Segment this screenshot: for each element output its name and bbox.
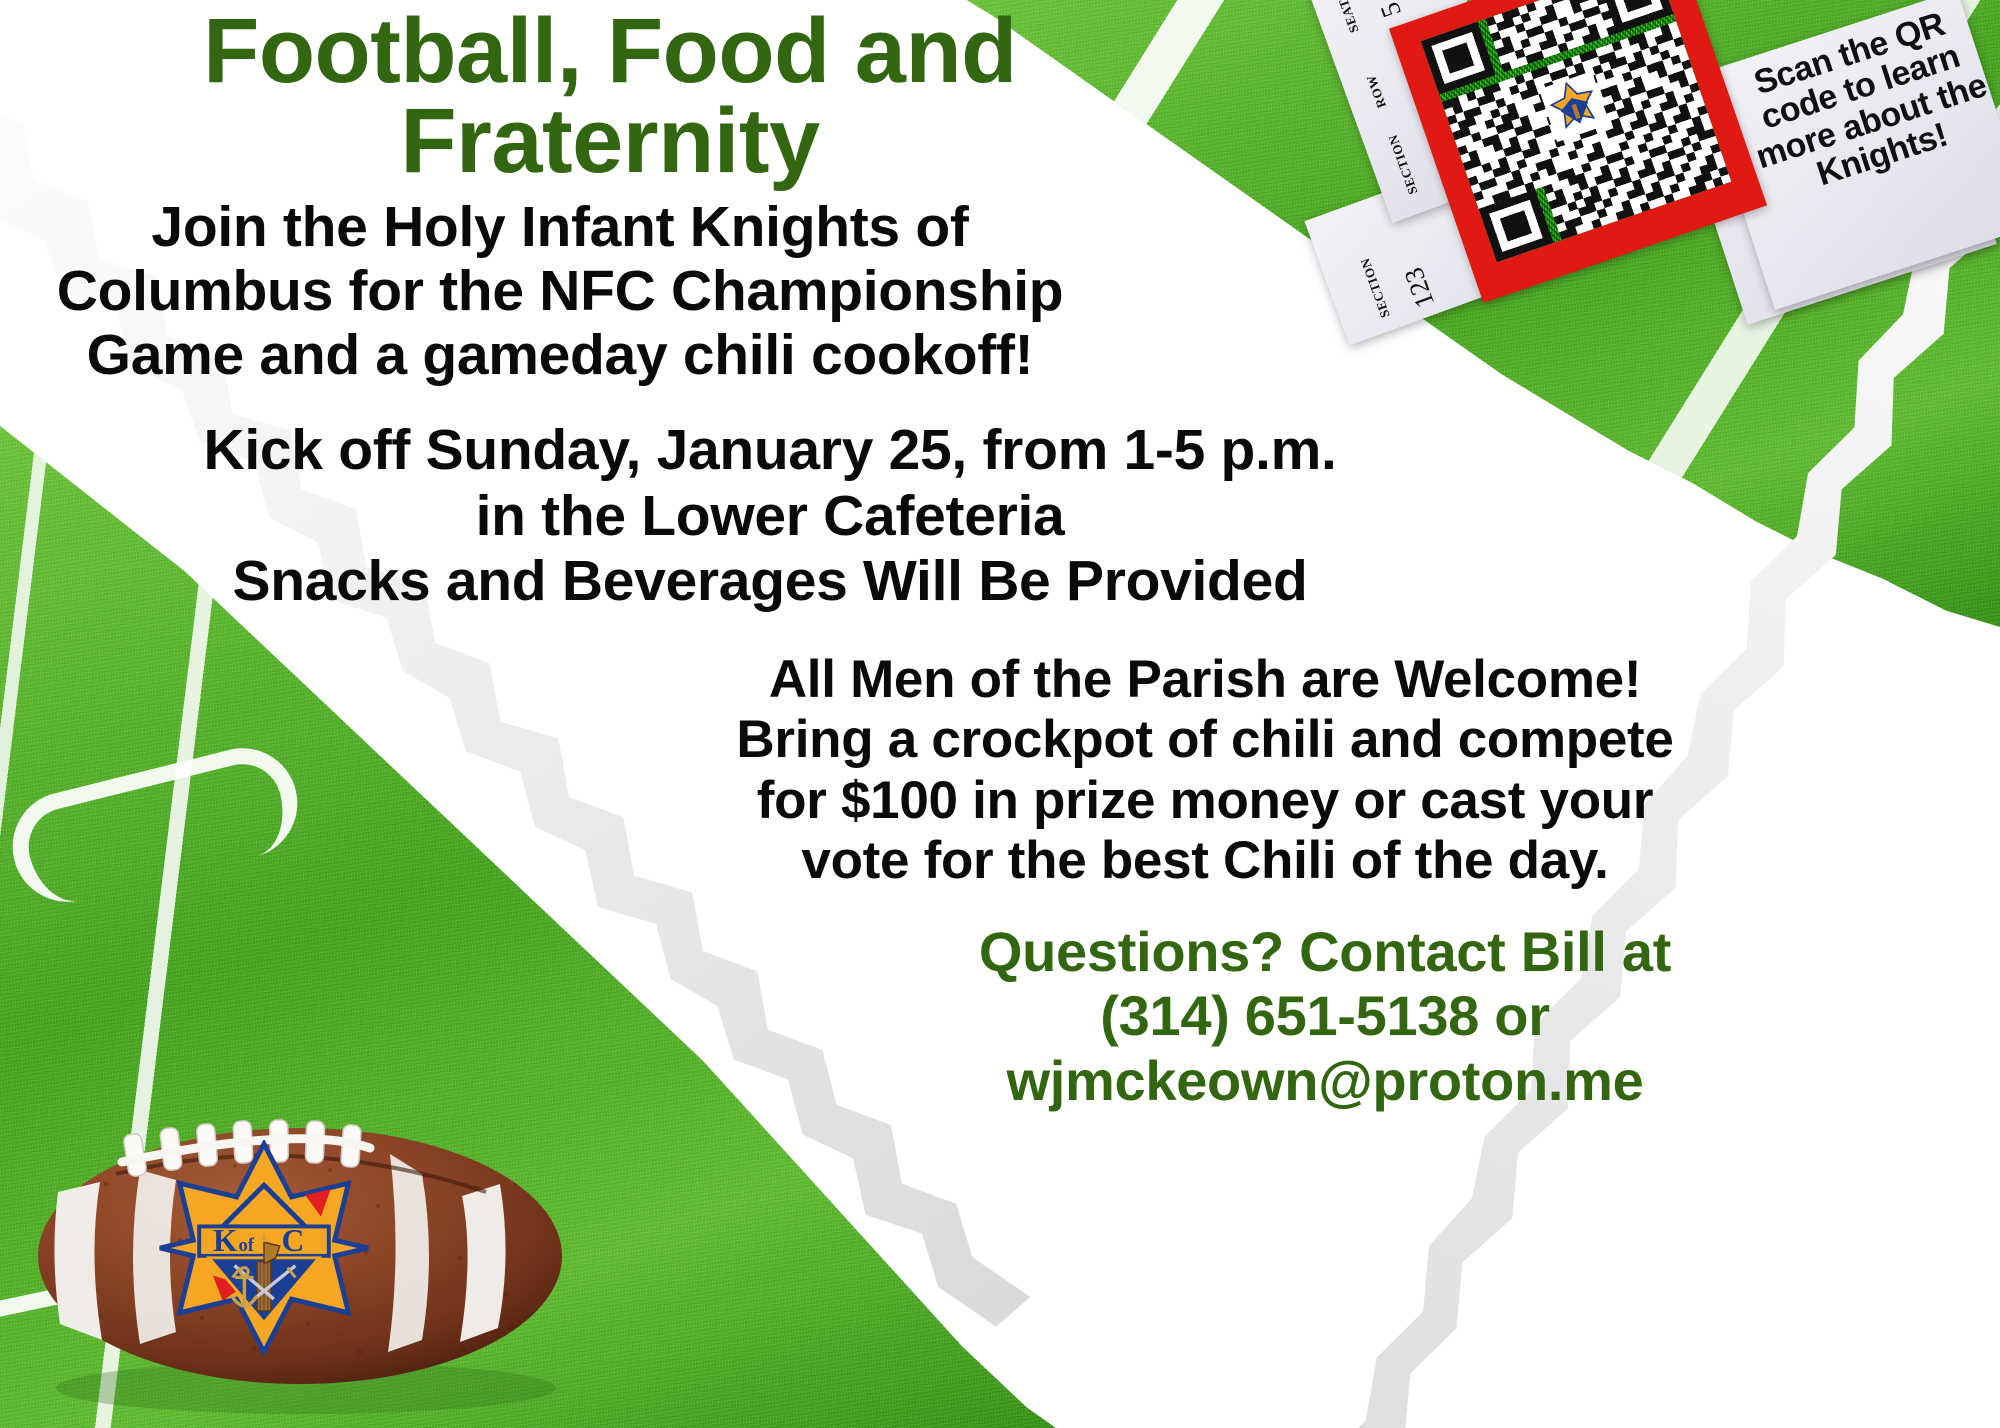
emblem-letter-of: of	[238, 1235, 254, 1256]
contact-paragraph: Questions? Contact Bill at (314) 651-513…	[660, 920, 1990, 1113]
contact-line-1: Questions? Contact Bill at	[660, 920, 1990, 984]
ticket-collage: SECTION 123 SECTION 123 ROW AA SEAT 5 Sc…	[1300, 0, 2000, 330]
flyer-canvas: SECTION 123 SECTION 123 ROW AA SEAT 5 Sc…	[0, 0, 2000, 1428]
cookoff-rules-paragraph: All Men of the Parish are Welcome! Bring…	[470, 650, 1940, 892]
event-details-paragraph: Kick off Sunday, January 25, from 1-5 p.…	[60, 418, 1480, 615]
contact-email[interactable]: wjmckeown@proton.me	[660, 1049, 1990, 1113]
knights-of-columbus-emblem-icon: K of C	[156, 1140, 372, 1356]
ticket-row-label: ROW	[1363, 72, 1390, 110]
rules-line-3: for $100 in prize money or cast your	[470, 771, 1940, 831]
event-provisions-line: Snacks and Beverages Will Be Provided	[60, 549, 1480, 615]
ticket-section-label: SECTION	[1385, 132, 1421, 196]
intro-line-3: Game and a gameday chili cookoff!	[0, 324, 1120, 388]
rules-line-4: vote for the best Chili of the day.	[470, 831, 1940, 891]
qr-code-icon[interactable]	[1421, 0, 1732, 262]
page-title: Football, Food and Fraternity	[0, 6, 1220, 186]
ticket-section-label-back: SECTION	[1357, 255, 1393, 319]
contact-phone[interactable]: (314) 651-5138 or	[660, 984, 1990, 1048]
intro-paragraph: Join the Holy Infant Knights of Columbus…	[0, 196, 1120, 387]
intro-line-2: Columbus for the NFC Championship	[0, 260, 1120, 324]
event-time-line: Kick off Sunday, January 25, from 1-5 p.…	[60, 418, 1480, 484]
rules-line-1: All Men of the Parish are Welcome!	[470, 650, 1940, 710]
rules-line-2: Bring a crockpot of chili and compete	[470, 710, 1940, 770]
title-text: Football, Food and Fraternity	[203, 0, 1017, 192]
emblem-letter-k: K	[213, 1223, 238, 1258]
football-with-emblem: K of C	[30, 1088, 570, 1418]
emblem-letter-c: C	[282, 1223, 305, 1258]
ticket-section-value-back: 123	[1398, 263, 1441, 312]
ticket-seat-value: 5	[1374, 0, 1408, 21]
event-location-line: in the Lower Cafeteria	[60, 484, 1480, 550]
intro-line-1: Join the Holy Infant Knights of	[0, 196, 1120, 260]
ticket-seat-label: SEAT	[1335, 0, 1362, 35]
